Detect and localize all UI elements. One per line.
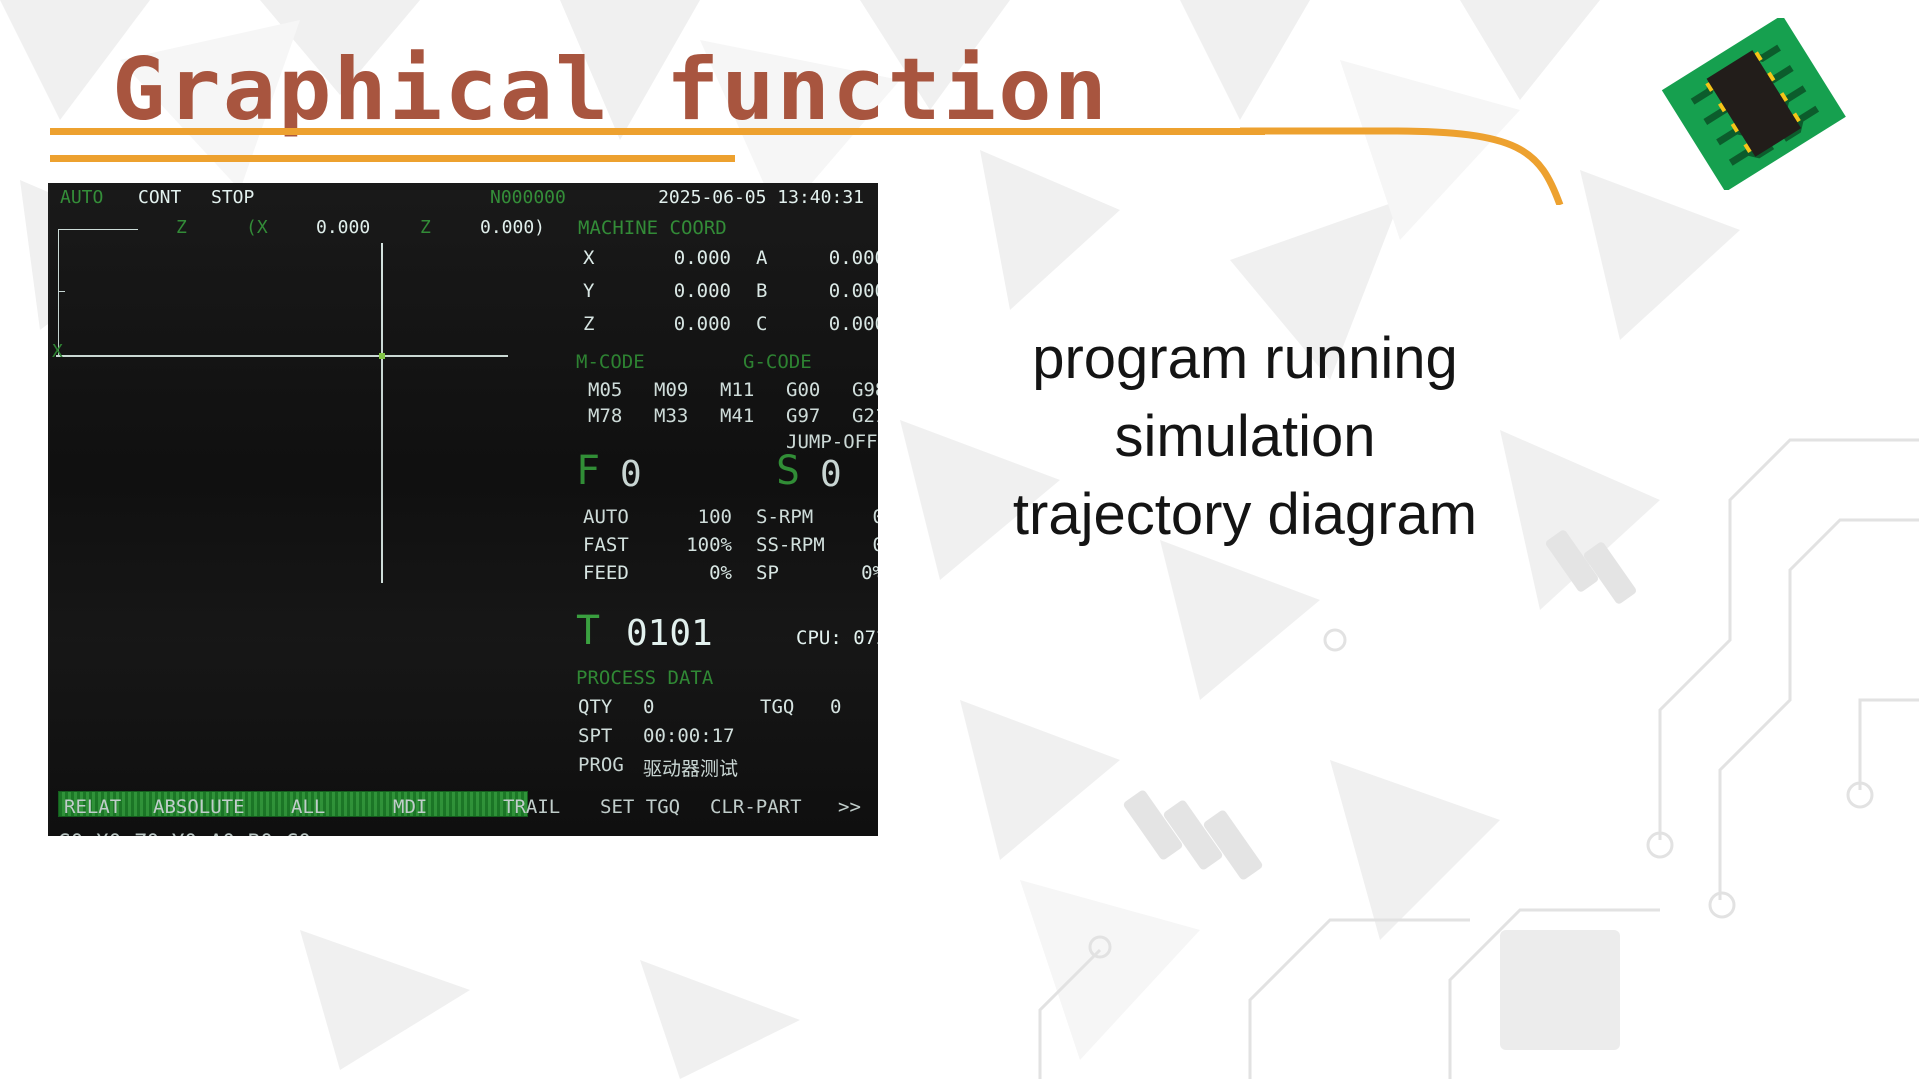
graph-pos-z-value: 0.000)	[480, 217, 545, 238]
feed-override-label: FEED	[583, 562, 629, 584]
machine-coord-row: Z 0.000 C 0.000	[548, 313, 878, 343]
softkey-trail[interactable]: TRAIL	[503, 796, 560, 818]
coord-axis-value: 0.000	[798, 313, 878, 335]
prog-value: 驱动器测试	[643, 754, 738, 781]
feed-spindle-row: FEED 0% SP 0%	[548, 562, 878, 589]
coord-axis-value: 0.000	[643, 313, 731, 335]
status-mode: AUTO	[60, 187, 103, 208]
cnc-status-bar: AUTO CONT STOP N000000 2025-06-05 13:40:…	[48, 187, 878, 213]
mcode-value: M05	[588, 379, 622, 401]
graph-pos-open: (X	[246, 217, 268, 238]
feed-value: 0	[620, 455, 642, 495]
coord-axis-label: X	[583, 247, 594, 269]
softkey-bar[interactable]: RELAT ABSOLUTE ALL MDI TRAIL SET TGQ CLR…	[48, 796, 878, 830]
process-data-title: PROCESS DATA	[576, 667, 713, 689]
mcode-value: M33	[654, 405, 688, 427]
caption-line: program running	[975, 320, 1515, 398]
mcode-value: M41	[720, 405, 754, 427]
mcode-value: M11	[720, 379, 754, 401]
caption-line: simulation	[975, 398, 1515, 476]
graph-pos-z-label: Z	[420, 217, 431, 238]
graph-pos-x-value: 0.000	[316, 217, 370, 238]
feed-spindle-row: FAST 100% SS-RPM 0	[548, 534, 878, 561]
coord-axis-value: 0.000	[643, 247, 731, 269]
gcode-value: G97	[786, 405, 820, 427]
process-data-row: SPT 00:00:17	[548, 725, 878, 754]
plot-origin-marker	[379, 353, 385, 359]
machine-coord-title: MACHINE COORD	[578, 217, 727, 239]
spt-label: SPT	[578, 725, 612, 747]
prog-label: PROG	[578, 754, 624, 776]
gcode-value: G21	[852, 405, 878, 427]
spindle-ssrpm-label: SS-RPM	[756, 534, 825, 556]
graph-z-label: Z	[176, 217, 187, 238]
coord-axis-label: A	[756, 247, 767, 269]
feed-fast-value: 100%	[660, 534, 732, 556]
coord-axis-label: Y	[583, 280, 594, 302]
gcode-title: G-CODE	[743, 351, 812, 373]
page-header: Graphical function	[0, 0, 1919, 190]
spindle-letter: S	[776, 451, 800, 491]
feed-auto-label: AUTO	[583, 506, 629, 528]
softkey-next-page[interactable]: >>	[838, 796, 861, 818]
mini-axis-vertical	[58, 229, 59, 355]
coord-axis-label: Z	[583, 313, 594, 335]
qty-value: 0	[643, 696, 654, 718]
spindle-ssrpm-value: 0	[822, 534, 878, 556]
process-data-row: QTY 0 TGQ 0	[548, 696, 878, 725]
trajectory-plot-area[interactable]: X	[48, 243, 548, 792]
tgq-label: TGQ	[760, 696, 794, 718]
softkey-all[interactable]: ALL	[291, 796, 325, 818]
coord-axis-value: 0.000	[643, 280, 731, 302]
coord-axis-label: B	[756, 280, 767, 302]
coord-axis-value: 0.000	[798, 247, 878, 269]
feed-letter: F	[576, 451, 600, 491]
spindle-sp-value: 0%	[822, 562, 878, 584]
tgq-value: 0	[830, 696, 841, 718]
header-rule-long	[50, 128, 1265, 135]
header-rule-short	[50, 155, 735, 162]
pcb-chip-icon	[1661, 18, 1846, 190]
mcode-value: M09	[654, 379, 688, 401]
coord-axis-value: 0.000	[798, 280, 878, 302]
coord-axis-label: C	[756, 313, 767, 335]
plot-x-axis-label: X	[52, 341, 63, 362]
caption-line: trajectory diagram	[975, 476, 1515, 554]
gcode-value: G98	[852, 379, 878, 401]
cnc-info-column: MACHINE COORD X 0.000 A 0.000 Y 0.000 B …	[548, 217, 878, 792]
status-run-state: STOP	[211, 187, 254, 208]
mcode-title: M-CODE	[576, 351, 645, 373]
gcode-value: G00	[786, 379, 820, 401]
trajectory-graph-panel[interactable]: Z (X 0.000 Z 0.000) X	[48, 217, 548, 792]
plot-axis-vertical	[381, 243, 383, 583]
spt-value: 00:00:17	[643, 725, 735, 747]
spindle-srpm-value: 0	[822, 506, 878, 528]
spindle-value: 0	[820, 455, 842, 495]
status-datetime: 2025-06-05 13:40:31	[658, 187, 864, 208]
tool-number: 0101	[626, 614, 713, 654]
plot-axis-horizontal	[56, 355, 508, 357]
status-block-number: N000000	[490, 187, 566, 208]
caption-block: program running simulation trajectory di…	[975, 320, 1515, 554]
machine-coord-row: X 0.000 A 0.000	[548, 247, 878, 277]
cpu-usage-label: CPU: 072%	[796, 627, 878, 649]
softkey-relat[interactable]: RELAT	[64, 796, 121, 818]
cnc-controller-screen[interactable]: AUTO CONT STOP N000000 2025-06-05 13:40:…	[48, 183, 878, 836]
softkey-clr-part[interactable]: CLR-PART	[710, 796, 802, 818]
spindle-sp-label: SP	[756, 562, 779, 584]
softkey-set-tgq[interactable]: SET TGQ	[600, 796, 680, 818]
feed-override-value: 0%	[660, 562, 732, 584]
machine-coord-row: Y 0.000 B 0.000	[548, 280, 878, 310]
softkey-absolute[interactable]: ABSOLUTE	[153, 796, 245, 818]
mcode-value: M78	[588, 405, 622, 427]
feed-spindle-row: AUTO 100 S-RPM 0	[548, 506, 878, 533]
header-rule-curve	[1240, 90, 1630, 205]
page-title: Graphical function	[112, 40, 1109, 140]
mini-axis-horizontal	[58, 229, 138, 230]
status-feed-mode: CONT	[138, 187, 181, 208]
qty-label: QTY	[578, 696, 612, 718]
process-data-row: PROG 驱动器测试	[548, 754, 878, 783]
graph-position-readout: Z (X 0.000 Z 0.000)	[48, 217, 548, 243]
mini-axis-tick	[58, 291, 65, 292]
feed-auto-value: 100	[660, 506, 732, 528]
spindle-srpm-label: S-RPM	[756, 506, 813, 528]
feed-fast-label: FAST	[583, 534, 629, 556]
tool-letter: T	[576, 611, 600, 651]
softkey-mdi[interactable]: MDI	[393, 796, 427, 818]
